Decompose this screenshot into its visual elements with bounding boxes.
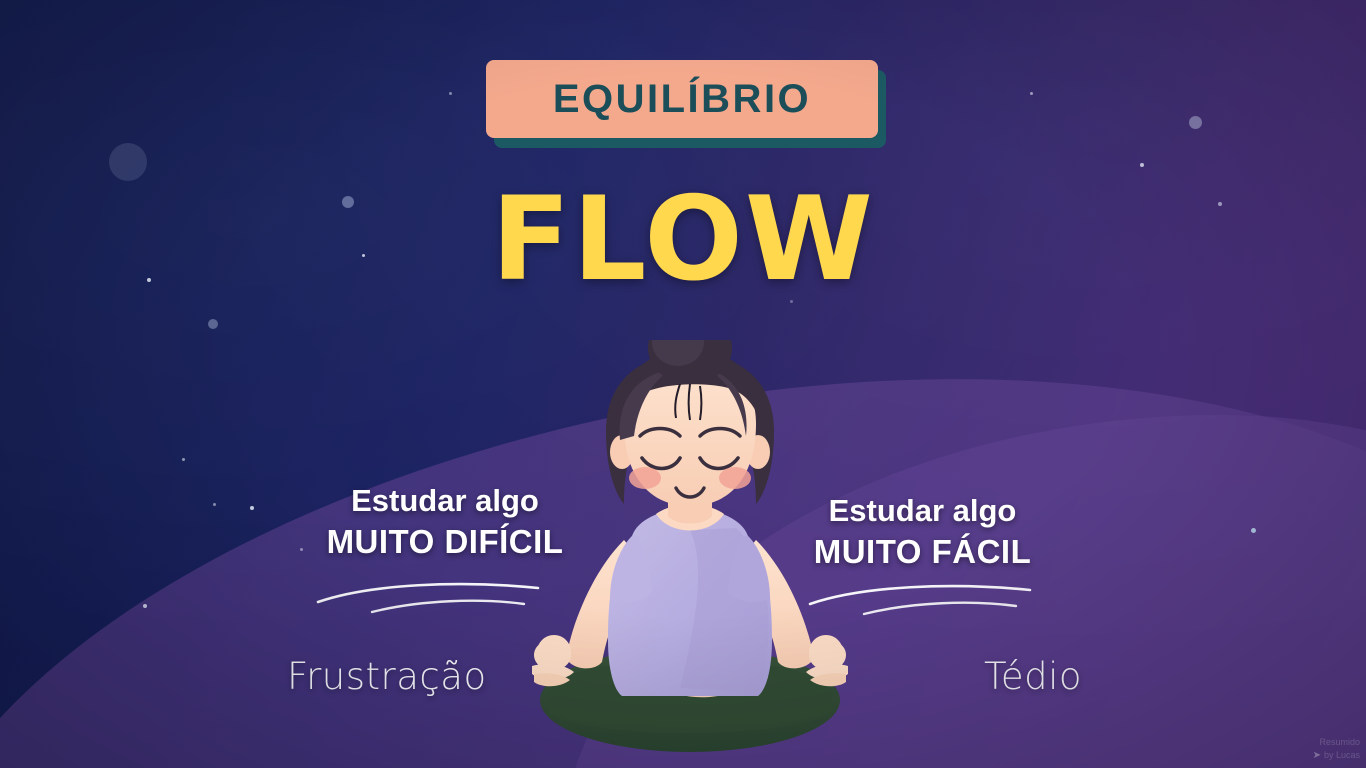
badge-label: EQUILÍBRIO bbox=[553, 77, 811, 122]
blush-right bbox=[719, 467, 751, 489]
decorative-circle-large bbox=[109, 143, 147, 181]
star-dot bbox=[449, 92, 452, 95]
star-dot bbox=[213, 503, 216, 506]
star-dot bbox=[1251, 528, 1256, 533]
left-underline-doodle bbox=[310, 578, 550, 618]
blush-left bbox=[629, 467, 661, 489]
decorative-circle-small bbox=[208, 319, 218, 329]
star-dot bbox=[182, 458, 185, 461]
right-outcome-word: Tédio bbox=[984, 655, 1082, 698]
star-dot bbox=[1030, 92, 1033, 95]
badge-body: EQUILÍBRIO bbox=[486, 60, 878, 138]
watermark-arrow-icon: ➤ bbox=[1313, 749, 1321, 762]
equilibrio-badge: EQUILÍBRIO bbox=[486, 60, 878, 138]
watermark-line2: by Lucas bbox=[1324, 750, 1360, 762]
presentation-slide: EQUILÍBRIO FLOW Estudar algo MUITO DIFÍC… bbox=[0, 0, 1366, 768]
left-outcome-word: Frustração bbox=[287, 655, 487, 698]
torso-shirt bbox=[608, 504, 772, 696]
star-dot bbox=[250, 506, 254, 510]
page-title: FLOW bbox=[0, 182, 1366, 298]
meditating-woman-illustration bbox=[520, 340, 860, 760]
watermark-line1: Resumido bbox=[1313, 737, 1360, 749]
decorative-circle-small bbox=[1189, 116, 1202, 129]
star-dot bbox=[143, 604, 147, 608]
star-dot bbox=[1140, 163, 1144, 167]
watermark: Resumido ➤ by Lucas bbox=[1313, 737, 1360, 762]
